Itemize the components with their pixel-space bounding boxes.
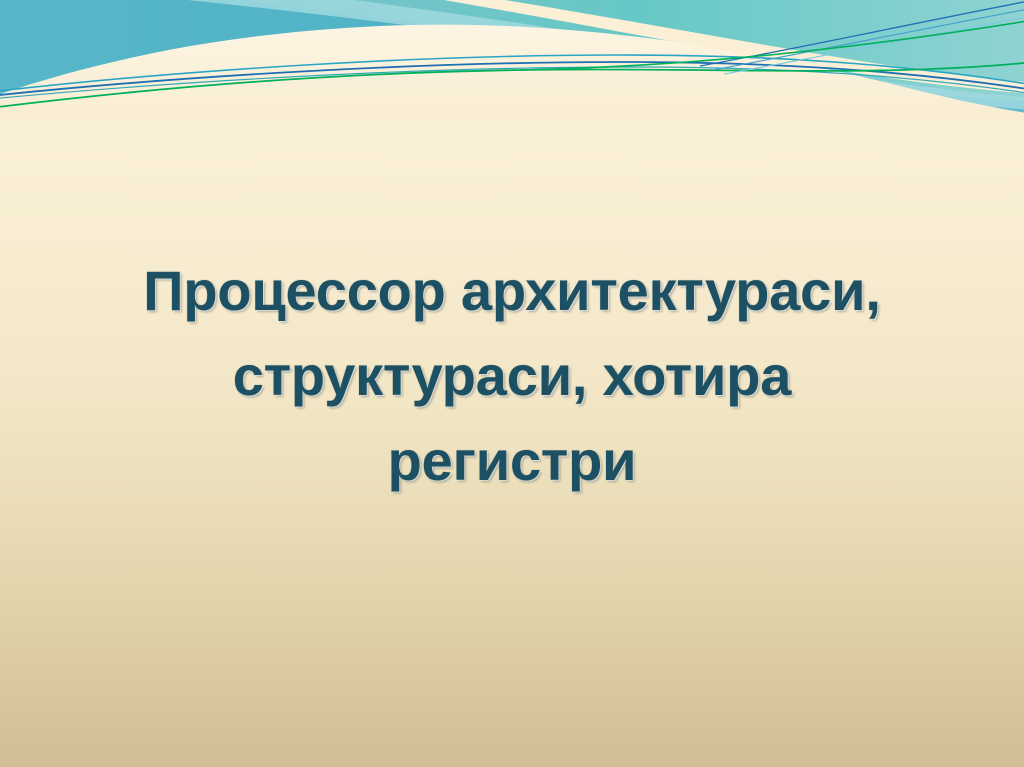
accent-line-green [0,62,1024,108]
wave-band-dark [0,0,1024,120]
accent-fan-line-1 [700,0,1024,66]
accent-line-cyan [0,55,1024,92]
wave-teal-background [0,0,1024,120]
title-line-1: Процессор архитектураси, [0,248,1024,333]
slide-title: Процессор архитектураси, структураси, хо… [0,248,1024,503]
wave-band-light [0,0,1024,112]
title-line-2: структураси, хотира [0,333,1024,418]
accent-line-blue [0,62,1024,96]
wave-cream-main [0,25,1024,120]
accent-line-green-right [520,20,1024,70]
accent-fan-line-3 [724,16,1024,74]
accent-fan-line-2 [712,8,1024,70]
title-line-3: регистри [0,418,1024,503]
wave-graphic [0,0,1024,120]
header-wave-decoration [0,0,1024,120]
wave-cream-ribbon [420,0,1024,96]
accent-line-teal [0,67,1024,99]
presentation-slide: Процессор архитектураси, структураси, хо… [0,0,1024,767]
